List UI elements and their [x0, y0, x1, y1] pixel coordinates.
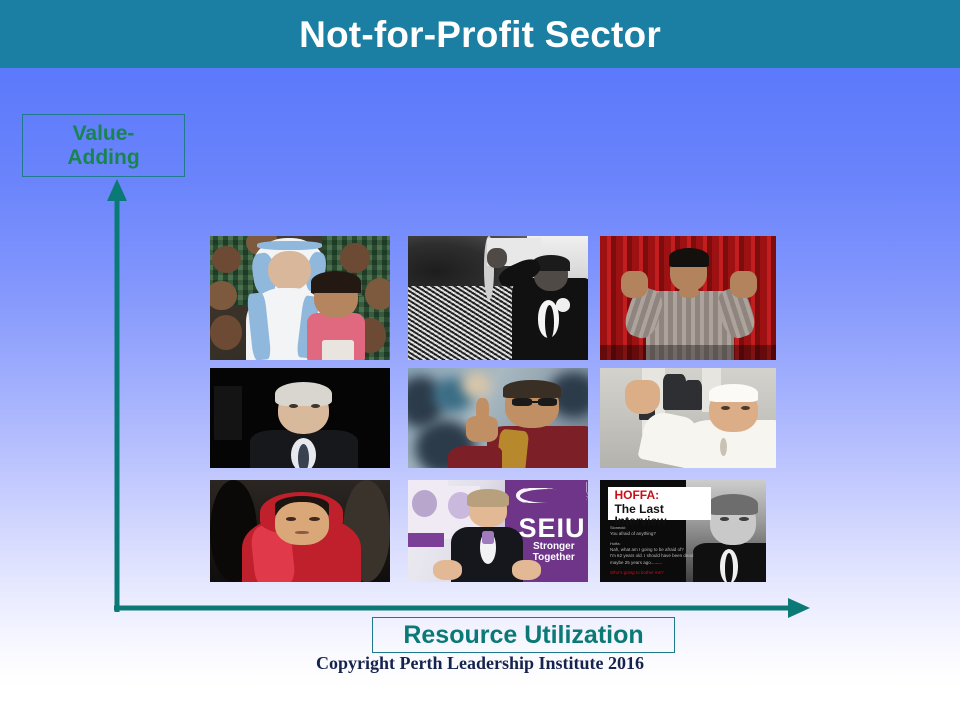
hoffa-question-text: You afraid of anything? [610, 531, 656, 537]
photo-martin-luther-king[interactable] [408, 236, 588, 360]
copyright-notice: Copyright Perth Leadership Institute 201… [0, 653, 960, 675]
hoffa-answer-line3: maybe 25 years ago......... [610, 560, 662, 566]
x-axis-label: Resource Utilization [403, 623, 643, 648]
photo-malala-yousafzai[interactable] [210, 480, 390, 582]
y-axis-label: Value- Adding [67, 122, 139, 169]
hoffa-title-line2: The Last Interview [614, 503, 711, 527]
photo-seiu-speaker[interactable]: SEIU Stronger Together [408, 480, 588, 582]
y-axis-label-box: Value- Adding [22, 114, 185, 177]
hoffa-title-card: HOFFA: The Last Interview [608, 487, 711, 520]
slide-footer-background [0, 688, 960, 720]
y-axis-label-line2: Adding [67, 146, 139, 169]
photo-mother-teresa[interactable] [210, 236, 390, 360]
photo-dalai-lama[interactable] [408, 368, 588, 468]
photo-sal-khan[interactable] [600, 236, 776, 360]
slide: Not-for-Profit Sector Value- Adding Reso… [0, 0, 960, 720]
photo-grid: SEIU Stronger Together [210, 236, 776, 582]
hoffa-answer-speaker: Hoffa: [610, 541, 621, 546]
seiu-logo-text: SEIU [512, 513, 588, 544]
hoffa-answer-line1: Nah, what am I going to be afraid of? [610, 547, 684, 553]
photo-pope-francis[interactable] [600, 368, 776, 468]
y-axis-label-line1: Value- [73, 122, 135, 145]
x-axis-label-box: Resource Utilization [372, 617, 675, 653]
hoffa-question-speaker: Slonecki: [610, 525, 626, 530]
photo-hoffa-interview[interactable]: HOFFA: The Last Interview Slonecki: You … [600, 480, 766, 582]
hoffa-answer-line2: I'm 62 years old. I should have been dea… [610, 553, 693, 559]
page-title: Not-for-Profit Sector [299, 16, 661, 53]
hoffa-closing-line: Who's going to bother me? [610, 570, 664, 576]
hoffa-title-line1: HOFFA: [614, 489, 659, 501]
title-bar: Not-for-Profit Sector [0, 0, 960, 68]
photo-julian-assange[interactable] [210, 368, 390, 468]
